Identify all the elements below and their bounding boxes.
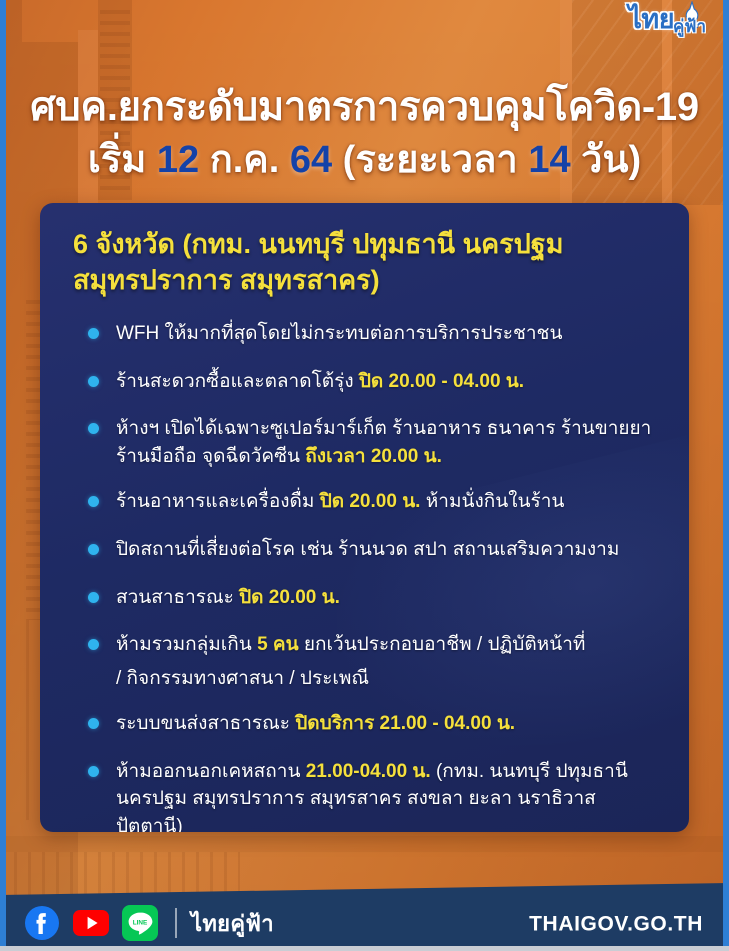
bullet-dot-icon <box>88 718 99 729</box>
title2-seg-c: ก.ค. <box>199 139 290 181</box>
measure-line1-plain: สวนสาธารณะ <box>116 587 239 608</box>
measure-line2: นครปฐม สมุทรปราการ สมุทรสาคร สงขลา ยะลา … <box>116 785 663 832</box>
poster-footer: LINE ไทยคู่ฟ้า THAIGOV.GO.TH <box>0 883 729 951</box>
bullet-dot-icon <box>88 544 99 555</box>
bullet-dot-icon <box>88 766 99 777</box>
poster-title-line-2: เริ่ม 12 ก.ค. 64 (ระยะเวลา 14 วัน) <box>0 128 729 189</box>
measure-line1-plain: ห้างฯ เปิดได้เฉพาะซูเปอร์มาร์เก็ต ร้านอา… <box>116 418 651 439</box>
measure-line1-highlight: 21.00-04.00 น. <box>306 761 431 782</box>
infographic-poster: ไทย คู่ฟ้า ศบค.ยกระดับมาตรการควบคุมโควิด… <box>0 0 729 951</box>
youtube-icon[interactable] <box>73 905 109 941</box>
measure-item: ห้างฯ เปิดได้เฉพาะซูเปอร์มาร์เก็ต ร้านอา… <box>70 415 663 470</box>
measure-line1-highlight: ปิด 20.00 น. <box>320 491 421 512</box>
measure-line1-highlight: ปิด 20.00 น. <box>239 587 340 608</box>
measure-item: ร้านสะดวกซื้อและตลาดโต้รุ่ง ปิด 20.00 - … <box>70 368 663 396</box>
measure-item: ระบบขนส่งสาธารณะ ปิดบริการ 21.00 - 04.00… <box>70 710 663 738</box>
measure-line1-plain: ห้ามออกนอกเคหสถาน <box>116 761 306 782</box>
measure-line1-tail: (กทม. นนทบุรี ปทุมธานี <box>431 761 628 782</box>
left-blue-rail <box>0 0 6 951</box>
logo-primary-text: ไทย <box>628 6 674 33</box>
bullet-dot-icon <box>88 376 99 387</box>
title2-year: 64 <box>290 139 332 181</box>
provinces-heading: 6 จังหวัด (กทม. นนทบุรี ปทุมธานี นครปฐม … <box>73 227 661 298</box>
title2-seg-g: วัน) <box>571 139 642 181</box>
footer-brand-label: ไทยคู่ฟ้า <box>191 906 274 941</box>
measure-line1-plain: ระบบขนส่งสาธารณะ <box>116 713 295 734</box>
measure-item: ห้ามรวมกลุ่มเกิน 5 คน ยกเว้นประกอบอาชีพ … <box>70 631 663 692</box>
measure-line2-highlight: ถึงเวลา 20.00 น. <box>305 446 442 467</box>
measure-line1-highlight: ปิด 20.00 - 04.00 น. <box>359 371 524 392</box>
measure-item: ปิดสถานที่เสี่ยงต่อโรค เช่น ร้านนวด สปา … <box>70 536 663 564</box>
title2-seg-e: (ระยะเวลา <box>332 139 528 181</box>
bullet-dot-icon <box>88 592 99 603</box>
bullet-dot-icon <box>88 639 99 650</box>
measure-line1-highlight: ปิดบริการ 21.00 - 04.00 น. <box>295 713 515 734</box>
right-blue-rail <box>723 0 729 951</box>
measure-line1-plain: ห้ามรวมกลุ่มเกิน <box>116 634 257 655</box>
facebook-icon[interactable] <box>24 905 60 941</box>
bullet-dot-icon <box>88 496 99 507</box>
measure-item: ร้านอาหารและเครื่องดื่ม ปิด 20.00 น. ห้า… <box>70 488 663 516</box>
line-icon[interactable]: LINE <box>122 905 158 941</box>
footer-divider <box>175 908 177 938</box>
poster-header: ไทย คู่ฟ้า ศบค.ยกระดับมาตรการควบคุมโควิด… <box>0 0 729 200</box>
line-icon-label: LINE <box>133 920 148 927</box>
measure-item: ห้ามออกนอกเคหสถาน 21.00-04.00 น. (กทม. น… <box>70 758 663 832</box>
measure-line1-highlight: 5 คน <box>257 634 299 655</box>
measures-list: WFH ให้มากที่สุดโดยไม่กระทบต่อการบริการป… <box>40 320 689 832</box>
measure-line1-plain: WFH ให้มากที่สุดโดยไม่กระทบต่อการบริการป… <box>116 323 562 344</box>
measure-line1-tail: ยกเว้นประกอบอาชีพ / ปฏิบัติหน้าที่ <box>299 634 586 655</box>
bullet-dot-icon <box>88 423 99 434</box>
footer-website-label: THAIGOV.GO.TH <box>529 912 703 936</box>
measures-panel: 6 จังหวัด (กทม. นนทบุรี ปทุมธานี นครปฐม … <box>40 203 689 832</box>
measure-line2: / กิจกรรมทางศาสนา / ประเพณี <box>116 665 663 693</box>
provinces-heading-line-2: สมุทรปราการ สมุทรสาคร) <box>73 265 380 295</box>
measure-item: สวนสาธารณะ ปิด 20.00 น. <box>70 584 663 612</box>
title2-duration: 14 <box>528 139 570 181</box>
measure-line1-tail: ห้ามนั่งกินในร้าน <box>420 491 564 512</box>
title2-day: 12 <box>157 139 199 181</box>
measure-line2: ร้านมือถือ จุดฉีดวัคซีน ถึงเวลา 20.00 น. <box>116 443 663 471</box>
bottom-strip <box>0 946 729 951</box>
measure-line1-plain: ปิดสถานที่เสี่ยงต่อโรค เช่น ร้านนวด สปา … <box>116 539 619 560</box>
social-icons-group: LINE <box>24 905 158 941</box>
measure-line2-plain: ร้านมือถือ จุดฉีดวัคซีน <box>116 446 305 467</box>
bullet-dot-icon <box>88 328 99 339</box>
logo-secondary-text: คู่ฟ้า <box>673 18 706 35</box>
measure-item: WFH ให้มากที่สุดโดยไม่กระทบต่อการบริการป… <box>70 320 663 348</box>
measure-line1-plain: ร้านอาหารและเครื่องดื่ม <box>116 491 320 512</box>
provinces-heading-line-1: 6 จังหวัด (กทม. นนทบุรี ปทุมธานี นครปฐม <box>73 229 564 259</box>
title2-seg-a: เริ่ม <box>88 139 157 181</box>
thai-khu-fa-logo: ไทย คู่ฟ้า <box>628 6 709 33</box>
measure-line1-plain: ร้านสะดวกซื้อและตลาดโต้รุ่ง <box>116 371 359 392</box>
